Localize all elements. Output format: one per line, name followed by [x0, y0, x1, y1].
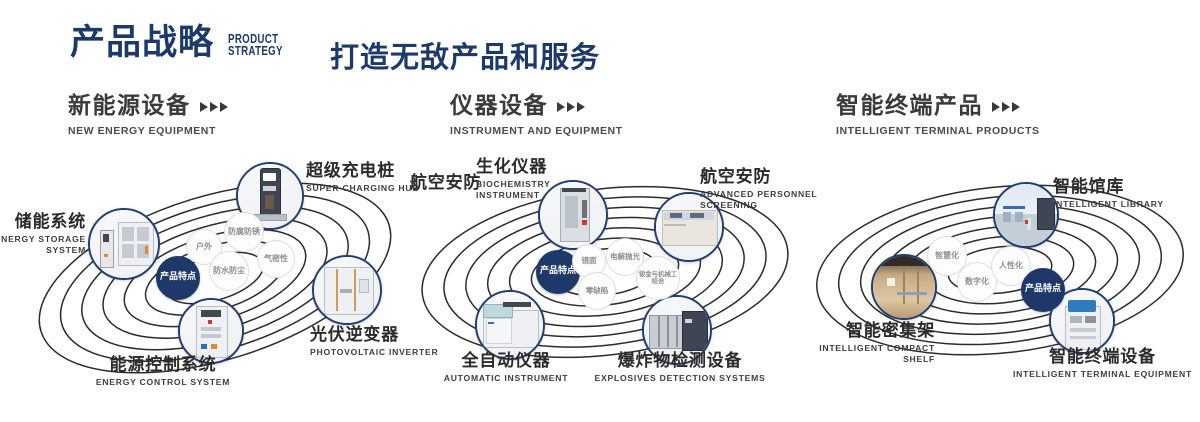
chevron-right-icon: [992, 102, 1020, 112]
product-label-cn: 爆炸物检测设备: [590, 352, 770, 371]
page-title: 产品战略: [70, 26, 214, 61]
product-label-cn: 储能系统: [0, 213, 86, 232]
center-badge-product-features: 产品特点: [1021, 268, 1065, 312]
feature-label: 电解抛光: [610, 253, 640, 261]
feature-label: 气密性: [264, 255, 288, 264]
poster-canvas: 产品战略 PRODUCT STRATEGY 打造无敌产品和服务 新能源设备 NE…: [0, 0, 1200, 422]
feature-bubble-anticorrosion: 防腐防锈: [224, 212, 264, 252]
section-title-instrument: 仪器设备 INSTRUMENT AND EQUIPMENT: [450, 95, 623, 137]
feature-bubble-waterproof: 防水防尘: [209, 251, 249, 291]
section-title-intelligent-terminal: 智能终端产品 INTELLIGENT TERMINAL PRODUCTS: [836, 95, 1040, 137]
intelligent-library-photo: [995, 184, 1057, 246]
center-badge-label: 产品特点: [160, 273, 196, 283]
product-label-en: BIOCHEMISTRY INSTRUMENT: [476, 179, 606, 200]
product-node-photovoltaic-inverter[interactable]: [312, 255, 382, 325]
center-badge-label: 产品特点: [540, 267, 576, 277]
product-label-en: AUTOMATIC INSTRUMENT: [418, 373, 594, 383]
product-label-intelligent-terminal-equipment: 智能终端设备 INTELLIGENT TERMINAL EQUIPMENT: [1005, 348, 1200, 380]
product-label-en: EXPLOSIVES DETECTION SYSTEMS: [590, 373, 770, 383]
product-label-energy-storage: 储能系统 ENERGY STORAGE SYSTEM: [0, 213, 86, 255]
automatic-instrument-photo: [477, 292, 543, 358]
feature-bubble-sheet-metal-machining: 钣金与机械工结合: [636, 256, 680, 300]
feature-bubble-airtightness: 气密性: [257, 240, 295, 278]
product-node-intelligent-compact-shelf[interactable]: [871, 254, 937, 320]
feature-label: 钣金与机械工结合: [637, 271, 679, 285]
chevron-right-icon: [200, 102, 228, 112]
feature-label: 数字化: [965, 278, 989, 287]
energy-control-photo: [180, 300, 242, 362]
product-label-cn: 全自动仪器: [418, 352, 594, 371]
product-label-cn: 生化仪器: [476, 158, 606, 177]
section-title-cn: 新能源设备: [68, 95, 191, 118]
product-label-en: ENERGY STORAGE SYSTEM: [0, 234, 86, 255]
section-title-cn: 仪器设备: [450, 95, 548, 118]
feature-label: 防水防尘: [213, 267, 245, 276]
feature-label: 防腐防锈: [228, 228, 260, 237]
section-title-en: INSTRUMENT AND EQUIPMENT: [450, 125, 623, 137]
energy-storage-photo: [90, 210, 158, 278]
product-label-intelligent-library: 智能馆库 INTELLIGENT LIBRARY: [1053, 178, 1173, 210]
orbit-diagram-new-energy: 储能系统 ENERGY STORAGE SYSTEM 超级充电桩 SUPER C…: [10, 150, 430, 400]
chevron-right-icon: [557, 102, 585, 112]
product-label-biochemistry-instrument: 生化仪器 BIOCHEMISTRY INSTRUMENT: [476, 158, 606, 200]
product-label-cn: 智能密集架: [795, 322, 935, 341]
orbit-diagram-instrument: 航空安防 生化仪器 BIOCHEMISTRY INSTRUMENT: [400, 150, 820, 400]
feature-bubble-zero-defect: 零缺陷: [578, 272, 616, 310]
poster-header: 产品战略 PRODUCT STRATEGY: [70, 26, 298, 61]
product-label-explosives-detection: 爆炸物检测设备 EXPLOSIVES DETECTION SYSTEMS: [590, 352, 770, 384]
product-node-automatic-instrument[interactable]: [475, 290, 545, 360]
product-label-intelligent-compact-shelf: 智能密集架 INTELLIGENT COMPACT SHELF: [795, 322, 935, 364]
product-label-en: INTELLIGENT COMPACT SHELF: [795, 343, 935, 364]
product-node-intelligent-library[interactable]: [993, 182, 1059, 248]
section-title-en: INTELLIGENT TERMINAL PRODUCTS: [836, 125, 1040, 137]
product-label-cn: 能源控制系统: [78, 356, 248, 375]
section-title-new-energy: 新能源设备 NEW ENERGY EQUIPMENT: [68, 95, 228, 137]
intelligent-compact-shelf-photo: [873, 256, 935, 318]
product-label-en: INTELLIGENT TERMINAL EQUIPMENT: [1005, 369, 1200, 379]
feature-label: 人性化: [999, 262, 1023, 271]
section-title-cn: 智能终端产品: [836, 95, 983, 118]
product-label-en: ENERGY CONTROL SYSTEM: [78, 377, 248, 387]
product-label-en: INTELLIGENT LIBRARY: [1053, 199, 1173, 209]
feature-label: 零缺陷: [586, 287, 609, 295]
tagline: 打造无敌产品和服务: [330, 34, 600, 76]
page-title-en: PRODUCT STRATEGY: [228, 33, 283, 62]
center-badge-product-features: 产品特点: [156, 256, 200, 300]
product-label-cn: 智能馆库: [1053, 178, 1173, 197]
product-label-cn: 智能终端设备: [1005, 348, 1200, 367]
feature-label: 智慧化: [935, 252, 959, 261]
feature-label: 镜面: [582, 257, 597, 265]
photovoltaic-inverter-photo: [314, 257, 380, 323]
product-label-automatic-instrument: 全自动仪器 AUTOMATIC INSTRUMENT: [418, 352, 594, 384]
product-label-energy-control: 能源控制系统 ENERGY CONTROL SYSTEM: [78, 356, 248, 388]
feature-label: 户外: [196, 243, 212, 252]
orbit-diagram-intelligent-terminal: 智能馆库 INTELLIGENT LIBRARY 智能密集架 INTELLIGE…: [805, 150, 1200, 400]
center-badge-label: 产品特点: [1025, 285, 1061, 295]
section-title-en: NEW ENERGY EQUIPMENT: [68, 125, 228, 137]
product-node-energy-storage[interactable]: [88, 208, 160, 280]
